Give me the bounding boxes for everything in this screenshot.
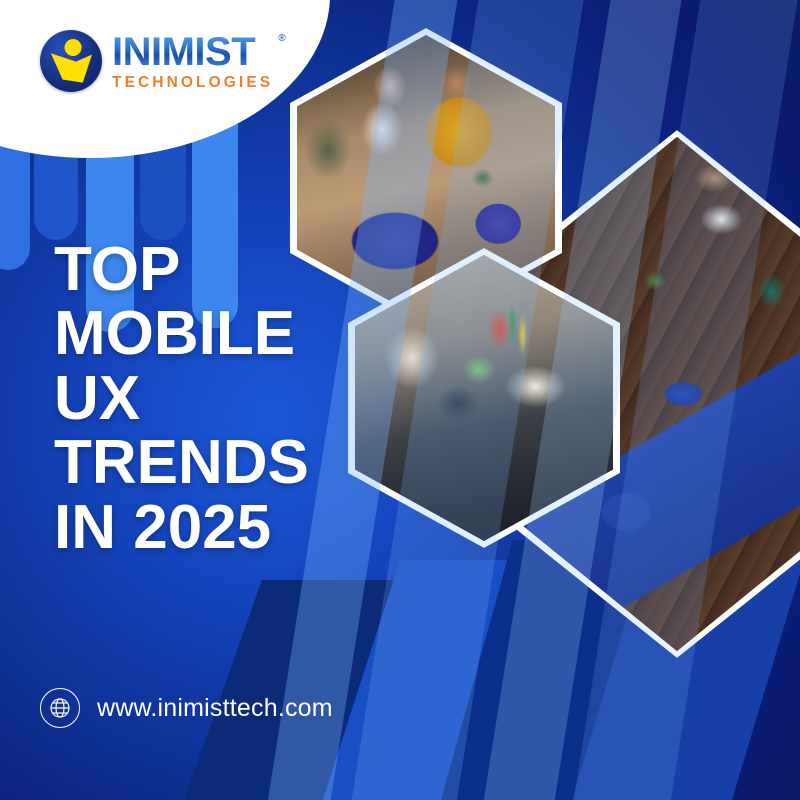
brand-logo[interactable]: INIMIST® TECHNOLOGIES — [40, 30, 273, 92]
registered-trademark-icon: ® — [278, 34, 285, 44]
headline-line: IN 2025 — [54, 496, 454, 560]
brand-tagline: TECHNOLOGIES — [112, 75, 273, 91]
website-url[interactable]: www.inimisttech.com — [97, 694, 333, 723]
figure-head-shape — [65, 39, 82, 56]
website-footer[interactable]: www.inimisttech.com — [40, 688, 333, 728]
page-title: TOP MOBILE UX TRENDS IN 2025 — [54, 238, 454, 560]
headline-line: MOBILE — [54, 302, 454, 366]
globe-person-icon — [40, 30, 102, 92]
brand-wordmark: INIMIST® TECHNOLOGIES — [112, 32, 273, 91]
brand-name: INIMIST® — [112, 32, 273, 72]
headline-line: TOP — [54, 238, 454, 302]
headline-line: TRENDS — [54, 431, 454, 495]
globe-icon — [40, 688, 80, 728]
figure-body-shape — [50, 52, 92, 84]
headline-line: UX — [54, 367, 454, 431]
social-media-poster: INIMIST® TECHNOLOGIES TOP MOBILE UX TREN… — [0, 0, 800, 800]
